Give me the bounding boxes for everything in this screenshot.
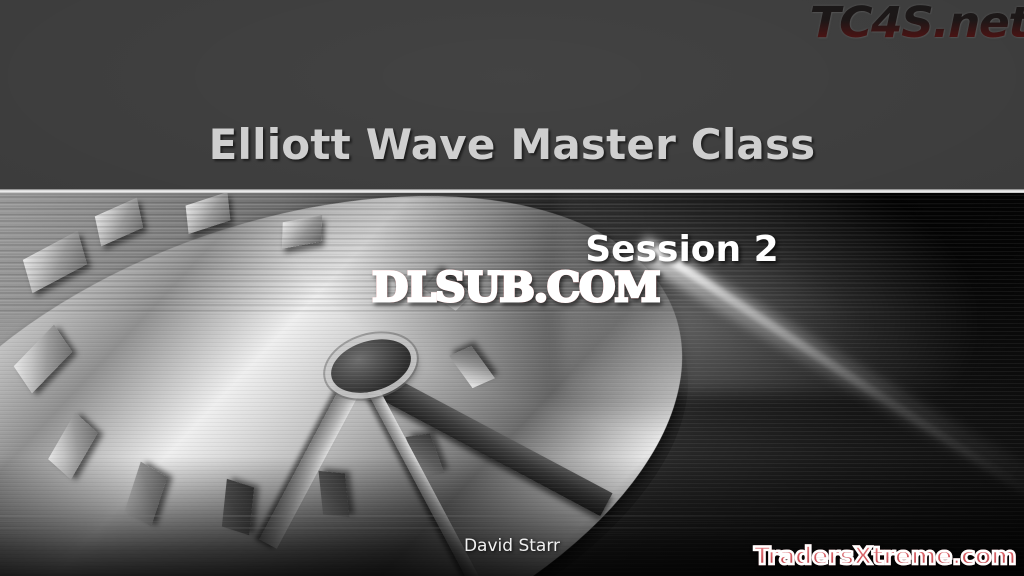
tradersxtreme-watermark-text: TradersXtreme.com [754,542,1016,570]
tradersxtreme-watermark: TradersXtreme.com [754,542,1016,570]
dlsub-watermark: DLSUB.COM [372,264,659,311]
page-title: Elliott Wave Master Class [0,120,1024,169]
slide-root: Elliott Wave Master Class TC4S.net Sessi… [0,0,1024,576]
title-band: Elliott Wave Master Class TC4S.net [0,0,1024,190]
dlsub-watermark-text: DLSUB.COM [372,264,659,311]
tc4s-watermark: TC4S.net [809,0,1024,48]
